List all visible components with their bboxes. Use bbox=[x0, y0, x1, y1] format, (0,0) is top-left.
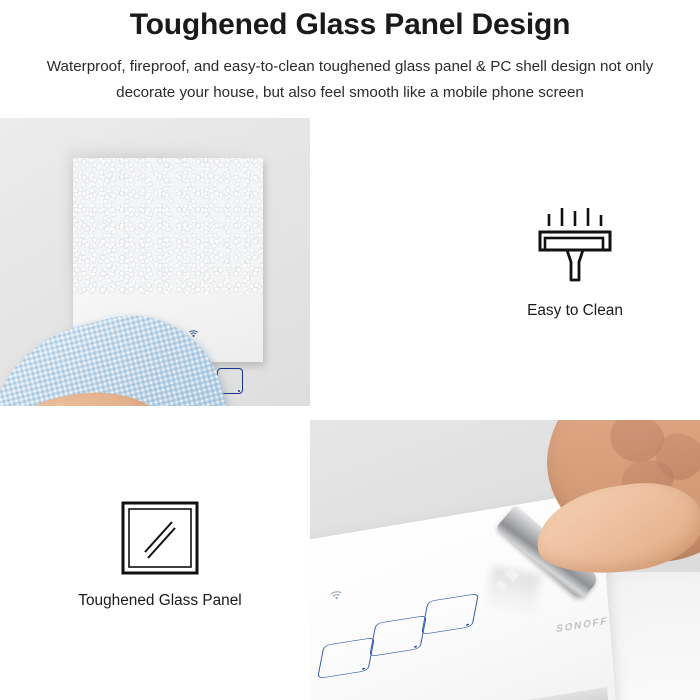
glass-pane-icon bbox=[120, 500, 200, 576]
touch-button-1[interactable] bbox=[317, 637, 375, 679]
subtitle-line-2: decorate your house, but also feel smoot… bbox=[0, 80, 700, 106]
photo-key-scratch-test: SONOFF bbox=[310, 420, 700, 700]
page-subtitle: Waterproof, fireproof, and easy-to-clean… bbox=[0, 54, 700, 106]
feature-toughened-glass-panel: Toughened Glass Panel bbox=[50, 500, 270, 630]
squeegee-icon bbox=[529, 206, 621, 288]
button-indicator-dot bbox=[362, 668, 365, 670]
cleaning-foam-texture bbox=[73, 158, 263, 294]
photo-wiping-panel: SONOFF bbox=[0, 118, 310, 406]
touch-button-2[interactable] bbox=[369, 615, 427, 657]
touch-button-3[interactable] bbox=[421, 593, 479, 635]
feature-caption-toughened-glass-panel: Toughened Glass Panel bbox=[50, 592, 270, 610]
button-indicator-dot bbox=[414, 646, 417, 648]
wifi-indicator-icon bbox=[189, 326, 198, 336]
button-indicator-dot bbox=[466, 624, 469, 626]
header: Toughened Glass Panel Design Waterproof,… bbox=[0, 0, 700, 112]
subtitle-line-1: Waterproof, fireproof, and easy-to-clean… bbox=[0, 54, 700, 80]
feature-easy-to-clean: Easy to Clean bbox=[470, 206, 680, 330]
feature-caption-easy-to-clean: Easy to Clean bbox=[470, 302, 680, 320]
button-indicator-dot bbox=[238, 390, 240, 392]
page-title: Toughened Glass Panel Design bbox=[0, 6, 700, 44]
product-feature-page: Toughened Glass Panel Design Waterproof,… bbox=[0, 0, 700, 700]
wifi-indicator-icon bbox=[329, 587, 343, 600]
